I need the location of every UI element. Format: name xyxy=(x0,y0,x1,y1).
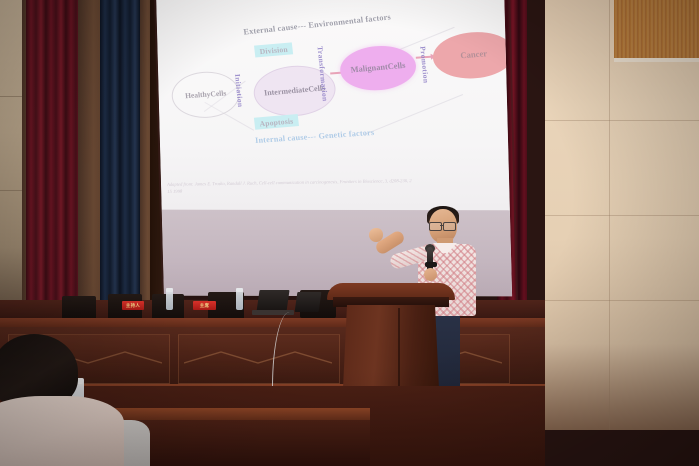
presentation-slide: Malign... External cause--- Environmenta… xyxy=(156,0,510,210)
dais-zigzag-trim-2 xyxy=(184,350,332,366)
dais-water-bottle-2 xyxy=(236,288,243,310)
wood-acoustic-panel xyxy=(614,0,699,62)
right-stone-wall xyxy=(545,0,699,430)
slide-citation: Adapted from: James E. Trosko, Randall J… xyxy=(167,178,418,195)
speaker-mic-hand xyxy=(424,268,437,281)
node-cancer-label: Cancer xyxy=(460,50,488,62)
dais-chair-1 xyxy=(62,296,96,320)
node-healthy-cells-line2: Cells xyxy=(210,89,227,98)
internal-cause-label: Internal cause--- Genetic factors xyxy=(255,128,375,145)
dais-equipment-box xyxy=(295,292,322,312)
node-healthy-cells: Healthy Cells xyxy=(170,70,242,121)
eyeglasses-left-lens xyxy=(429,222,442,231)
connector-line-lower-right xyxy=(364,94,464,135)
eyeglasses-bridge xyxy=(440,225,444,226)
box-division: Division xyxy=(254,42,293,57)
node-malignant-line1: Malignant xyxy=(350,63,388,75)
node-healthy-cells-line1: Healthy xyxy=(185,90,211,100)
wristwatch xyxy=(425,262,437,267)
eyeglasses-right-lens xyxy=(443,222,456,231)
node-malignant-line2: Cells xyxy=(387,61,406,72)
stage-label-initiation: Initiation xyxy=(233,74,245,108)
box-apoptosis: Apoptosis xyxy=(254,114,299,130)
node-cancer: Cancer xyxy=(430,29,512,82)
name-placard-2: 主席 xyxy=(193,301,216,310)
node-malignant-cells: Malignant Cells xyxy=(338,43,419,93)
external-cause-label: External cause--- Environmental factors xyxy=(243,12,391,36)
speaker-gesturing-hand xyxy=(369,228,383,242)
audience-member-1-body xyxy=(0,396,124,466)
name-placard-1: 主持人 xyxy=(122,301,144,310)
stage-label-promotion: Promotion xyxy=(418,46,431,84)
node-intermediate-line1: Intermediate xyxy=(264,85,309,97)
dais-water-bottle-1 xyxy=(166,288,173,310)
lecture-hall-scene: Malign... External cause--- Environmenta… xyxy=(0,0,699,466)
dais-laptop-screen xyxy=(256,290,289,312)
